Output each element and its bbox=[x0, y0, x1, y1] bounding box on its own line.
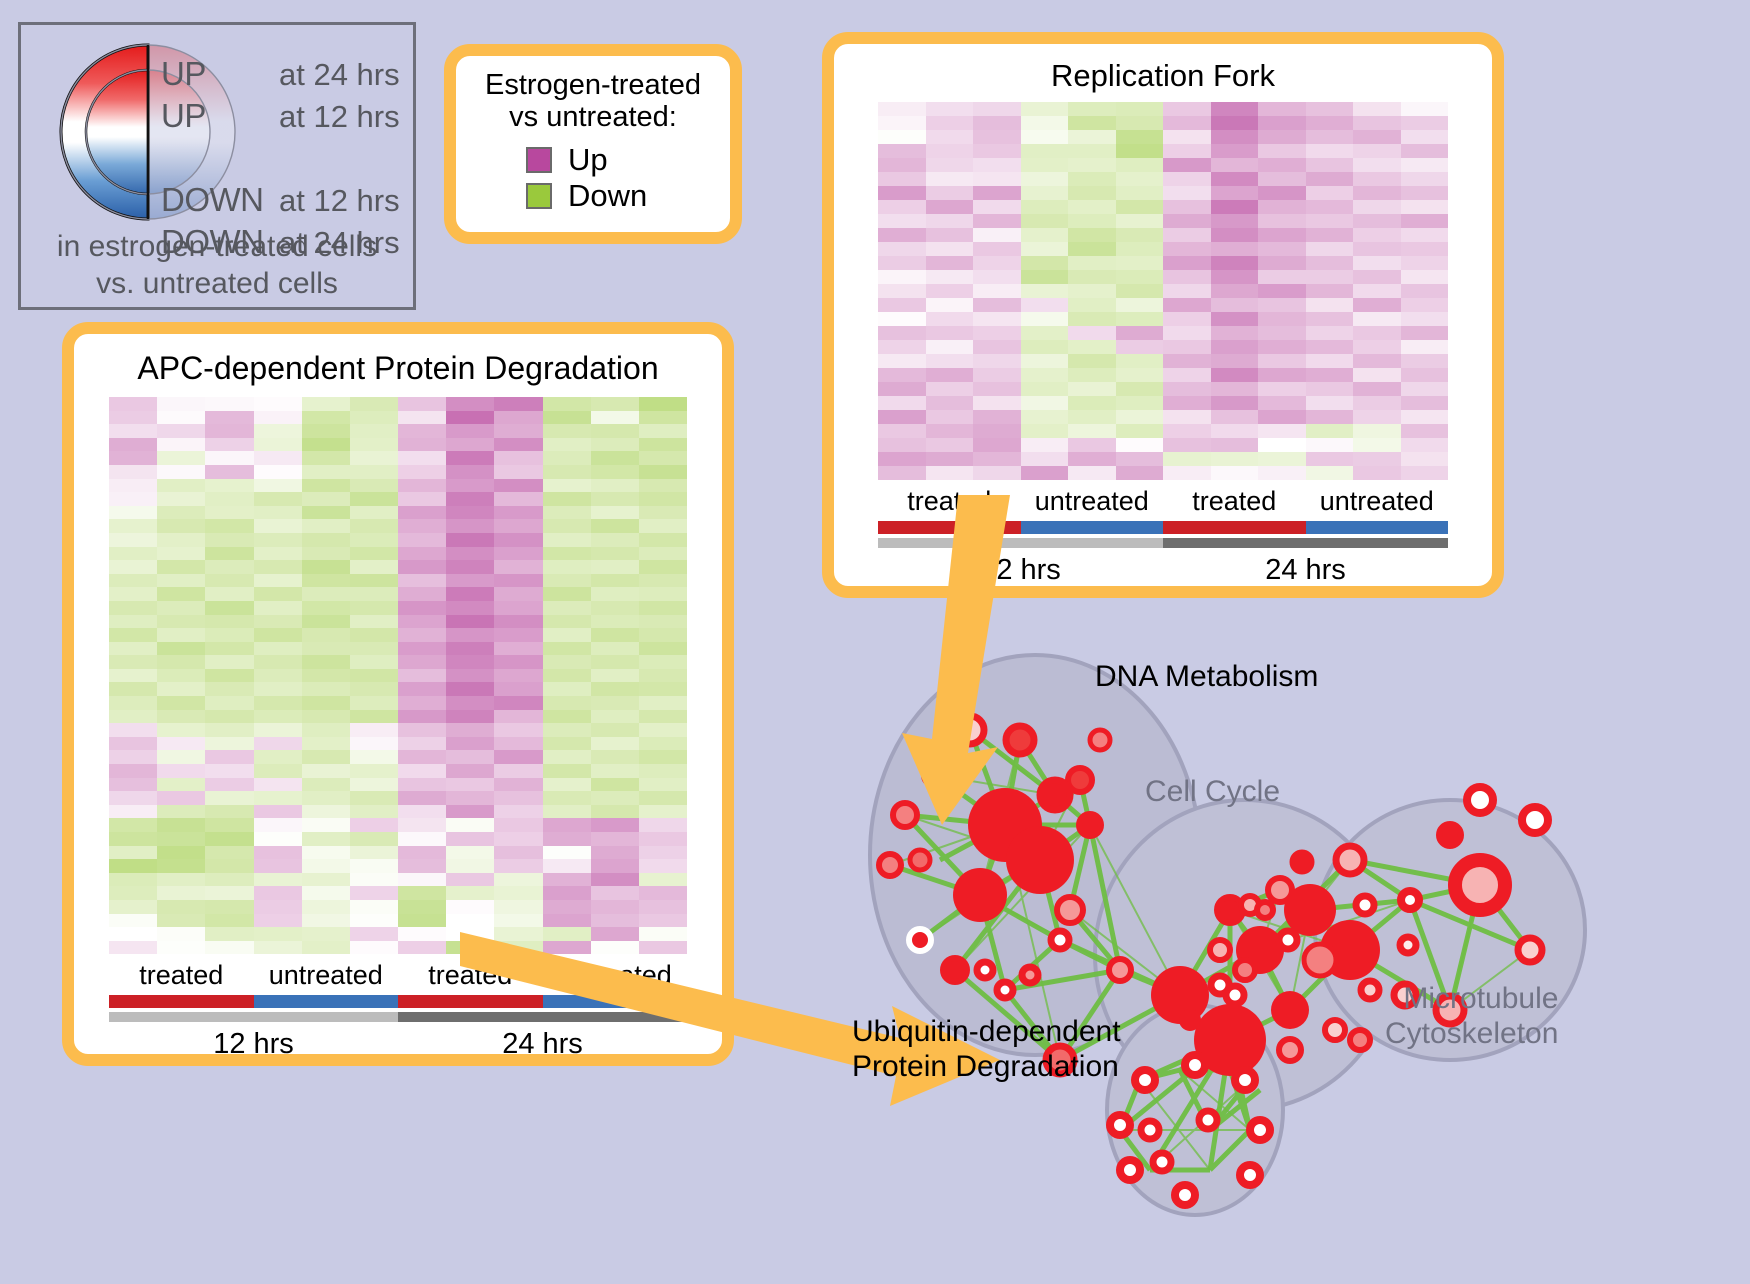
heatmap-cell bbox=[1068, 396, 1116, 410]
heatmap-cell bbox=[1021, 424, 1069, 438]
heatmap-cell bbox=[1401, 452, 1449, 466]
heatmap-cell bbox=[494, 818, 542, 832]
heatmap-cell bbox=[1401, 270, 1449, 284]
heatmap-cell bbox=[350, 533, 398, 547]
heatmap-cell bbox=[494, 859, 542, 873]
legend-items: Up Down bbox=[526, 142, 730, 214]
heatmap-cell bbox=[1211, 382, 1259, 396]
heatmap-cell bbox=[302, 873, 350, 887]
heatmap-cell bbox=[973, 466, 1021, 480]
heatmap-cell bbox=[543, 560, 591, 574]
heatmap-cell bbox=[109, 479, 157, 493]
network-node bbox=[1455, 860, 1505, 910]
heatmap-cell bbox=[398, 941, 446, 955]
heatmap-cell bbox=[591, 750, 639, 764]
heatmap-cell bbox=[109, 465, 157, 479]
heatmap-cell bbox=[1353, 382, 1401, 396]
heatmap-cell bbox=[109, 737, 157, 751]
heatmap-cell bbox=[1353, 410, 1401, 424]
heatmap-cell bbox=[1068, 144, 1116, 158]
network-node bbox=[1361, 981, 1379, 999]
network-node bbox=[1120, 1160, 1140, 1180]
heatmap-cell bbox=[878, 228, 926, 242]
heatmap-cell bbox=[1068, 368, 1116, 382]
heatmap-cell bbox=[157, 615, 205, 629]
heatmap-cell bbox=[398, 805, 446, 819]
heatmap-cell bbox=[446, 587, 494, 601]
heatmap-cell bbox=[1163, 116, 1211, 130]
cluster-label-ubiquitin-degradation: Ubiquitin-dependent Protein Degradation bbox=[852, 1015, 1121, 1085]
heatmap-cell bbox=[398, 628, 446, 642]
heatmap-cell bbox=[494, 846, 542, 860]
heatmap-cell bbox=[254, 818, 302, 832]
heatmap-cell bbox=[1353, 326, 1401, 340]
heatmap-cell bbox=[398, 601, 446, 615]
heatmap-cell bbox=[254, 642, 302, 656]
heatmap-cell bbox=[591, 506, 639, 520]
heatmap-cell bbox=[1258, 242, 1306, 256]
heatmap-cell bbox=[254, 791, 302, 805]
heatmap-cell bbox=[109, 492, 157, 506]
network-node bbox=[1325, 1020, 1345, 1040]
heatmap-cell bbox=[446, 533, 494, 547]
color-key-footer-line2: vs. untreated cells bbox=[21, 266, 413, 303]
heatmap-cell bbox=[1211, 116, 1259, 130]
heatmap-cell bbox=[973, 130, 1021, 144]
heatmap-cell bbox=[157, 832, 205, 846]
heatmap-cell bbox=[1163, 256, 1211, 270]
heatmap-cell bbox=[973, 410, 1021, 424]
heatmap-cell bbox=[302, 805, 350, 819]
heatmap-cell bbox=[1211, 410, 1259, 424]
heatmap-cell bbox=[157, 628, 205, 642]
heatmap-cell bbox=[1068, 410, 1116, 424]
heatmap-cell bbox=[302, 750, 350, 764]
heatmap-cell bbox=[494, 601, 542, 615]
heatmap-cell bbox=[446, 424, 494, 438]
heatmap-cell bbox=[1021, 158, 1069, 172]
heatmap-cell bbox=[157, 424, 205, 438]
heatmap-cell bbox=[878, 284, 926, 298]
network-node bbox=[1135, 1070, 1155, 1090]
heatmap-cell bbox=[1258, 172, 1306, 186]
heatmap-cell bbox=[494, 479, 542, 493]
heatmap-cell bbox=[494, 397, 542, 411]
heatmap-cell bbox=[878, 214, 926, 228]
heatmap-cell bbox=[254, 451, 302, 465]
heatmap-cell bbox=[1306, 312, 1354, 326]
heatmap-cell bbox=[1116, 466, 1164, 480]
heatmap-cell bbox=[591, 533, 639, 547]
heatmap-cell bbox=[1306, 144, 1354, 158]
heatmap-cell bbox=[302, 547, 350, 561]
heatmap-cell bbox=[591, 492, 639, 506]
heatmap-cell bbox=[1353, 200, 1401, 214]
heatmap-cell bbox=[350, 628, 398, 642]
heatmap-cell bbox=[1021, 172, 1069, 186]
heatmap-cell bbox=[398, 846, 446, 860]
heatmap-cell bbox=[1068, 102, 1116, 116]
heatmap-cell bbox=[973, 382, 1021, 396]
heatmap-cell bbox=[1163, 172, 1211, 186]
heatmap-cell bbox=[350, 642, 398, 656]
heatmap-cell bbox=[254, 601, 302, 615]
network-node bbox=[1279, 1039, 1301, 1061]
heatmap-cell bbox=[1353, 354, 1401, 368]
heatmap-cell bbox=[446, 628, 494, 642]
heatmap-cell bbox=[926, 242, 974, 256]
heatmap-cell bbox=[926, 354, 974, 368]
heatmap-cell bbox=[205, 492, 253, 506]
heatmap-cell bbox=[398, 682, 446, 696]
heatmap-cell bbox=[926, 144, 974, 158]
heatmap-cell bbox=[254, 492, 302, 506]
heatmap-cell bbox=[639, 479, 687, 493]
heatmap-cell bbox=[398, 397, 446, 411]
heatmap-cell bbox=[205, 737, 253, 751]
heatmap-cell bbox=[109, 574, 157, 588]
heatmap-cell bbox=[350, 506, 398, 520]
heatmap-cell bbox=[591, 615, 639, 629]
heatmap-cell bbox=[543, 547, 591, 561]
heatmap-cell bbox=[591, 465, 639, 479]
heatmap-cell bbox=[543, 506, 591, 520]
heatmap-cell bbox=[109, 873, 157, 887]
heatmap-cell bbox=[878, 326, 926, 340]
heatmap-cell bbox=[591, 832, 639, 846]
heatmap-cell bbox=[1068, 452, 1116, 466]
untreated-bar-segment bbox=[254, 995, 399, 1008]
heatmap-cell bbox=[398, 560, 446, 574]
heatmap-cell bbox=[878, 368, 926, 382]
heatmap-cell bbox=[973, 228, 1021, 242]
heatmap-cell bbox=[302, 519, 350, 533]
heatmap-cell bbox=[1211, 284, 1259, 298]
heatmap-cell bbox=[205, 873, 253, 887]
network-node bbox=[1240, 1165, 1260, 1185]
heatmap-cell bbox=[398, 506, 446, 520]
time12-bar-segment bbox=[109, 1012, 398, 1022]
heatmap-cell bbox=[1163, 130, 1211, 144]
heatmap-cell bbox=[205, 791, 253, 805]
heatmap-cell bbox=[398, 519, 446, 533]
heatmap-cell bbox=[1163, 144, 1211, 158]
heatmap-cell bbox=[494, 669, 542, 683]
heatmap-cell bbox=[1021, 438, 1069, 452]
heatmap-cell bbox=[109, 547, 157, 561]
heatmap-cell bbox=[1211, 466, 1259, 480]
heatmap-cell bbox=[591, 886, 639, 900]
heatmap-cell bbox=[639, 560, 687, 574]
heatmap-cell bbox=[157, 642, 205, 656]
heatmap-cell bbox=[1211, 368, 1259, 382]
heatmap-cell bbox=[543, 438, 591, 452]
heatmap-cell bbox=[494, 587, 542, 601]
heatmap-cell bbox=[1021, 284, 1069, 298]
heatmap-cell bbox=[157, 764, 205, 778]
heatmap-cell bbox=[1258, 340, 1306, 354]
heatmap-cell bbox=[1021, 326, 1069, 340]
heatmap-cell bbox=[543, 886, 591, 900]
heatmap-cell bbox=[1306, 116, 1354, 130]
heatmap-cell bbox=[973, 144, 1021, 158]
heatmap-cell bbox=[109, 519, 157, 533]
heatmap-cell bbox=[446, 696, 494, 710]
heatmap-cell bbox=[1116, 424, 1164, 438]
heatmap-cell bbox=[543, 710, 591, 724]
heatmap-cell bbox=[926, 410, 974, 424]
heatmap-cell bbox=[350, 682, 398, 696]
network-node bbox=[1439, 824, 1461, 846]
heatmap-cell bbox=[639, 465, 687, 479]
heatmap-cell bbox=[591, 737, 639, 751]
heatmap-cell bbox=[1021, 256, 1069, 270]
heatmap-cell bbox=[398, 859, 446, 873]
heatmap-cell bbox=[446, 886, 494, 900]
heatmap-cell bbox=[1211, 298, 1259, 312]
heatmap-cell bbox=[205, 846, 253, 860]
heatmap-cell bbox=[1306, 410, 1354, 424]
heatmap-cell bbox=[1401, 158, 1449, 172]
heatmap-cell bbox=[973, 438, 1021, 452]
legend-title-line2: vs untreated: bbox=[456, 102, 730, 134]
heatmap-cell bbox=[1211, 158, 1259, 172]
heatmap-cell bbox=[543, 615, 591, 629]
heatmap-cell bbox=[591, 805, 639, 819]
heatmap-cell bbox=[926, 228, 974, 242]
heatmap-cell bbox=[639, 873, 687, 887]
heatmap-cell bbox=[1116, 396, 1164, 410]
heatmap-cell bbox=[302, 411, 350, 425]
heatmap-cell bbox=[302, 832, 350, 846]
heatmap-cell bbox=[591, 574, 639, 588]
heatmap-cell bbox=[350, 914, 398, 928]
heatmap-cell bbox=[591, 846, 639, 860]
heatmap-cell bbox=[926, 200, 974, 214]
network-node bbox=[1250, 1120, 1270, 1140]
network-node bbox=[1467, 787, 1493, 813]
heatmap-cell bbox=[350, 764, 398, 778]
legend-item-down: Down bbox=[526, 178, 730, 214]
heatmap-cell bbox=[591, 519, 639, 533]
heatmap-cell bbox=[1163, 326, 1211, 340]
heatmap-cell bbox=[973, 298, 1021, 312]
heatmap-cell bbox=[1306, 284, 1354, 298]
heatmap-cell bbox=[494, 533, 542, 547]
legend-label-down: Down bbox=[568, 178, 647, 214]
heatmap-cell bbox=[302, 628, 350, 642]
network-node bbox=[1235, 960, 1255, 980]
heatmap-cell bbox=[109, 750, 157, 764]
heatmap-cell bbox=[254, 696, 302, 710]
heatmap-cell bbox=[205, 778, 253, 792]
heatmap-cell bbox=[1306, 452, 1354, 466]
heatmap-cell bbox=[446, 764, 494, 778]
heatmap-cell bbox=[157, 451, 205, 465]
heatmap-cell bbox=[1068, 354, 1116, 368]
heatmap-cell bbox=[1068, 256, 1116, 270]
treated-bar-segment bbox=[109, 995, 254, 1008]
heatmap-cell bbox=[109, 615, 157, 629]
heatmap-cell bbox=[494, 886, 542, 900]
heatmap-cell bbox=[350, 574, 398, 588]
heatmap-cell bbox=[205, 886, 253, 900]
heatmap-cell bbox=[973, 354, 1021, 368]
key-timepoint: at 12 hrs bbox=[279, 99, 400, 135]
heatmap-cell bbox=[543, 479, 591, 493]
heatmap-cell bbox=[1258, 424, 1306, 438]
heatmap-cell bbox=[1116, 256, 1164, 270]
heatmap-cell bbox=[543, 492, 591, 506]
network-node bbox=[1109, 959, 1131, 981]
heatmap-cell bbox=[205, 574, 253, 588]
heatmap-cell bbox=[1211, 270, 1259, 284]
heatmap-cell bbox=[494, 791, 542, 805]
heatmap-cell bbox=[109, 914, 157, 928]
heatmap-cell bbox=[591, 710, 639, 724]
heatmap-cell bbox=[254, 397, 302, 411]
heatmap-cell bbox=[1401, 312, 1449, 326]
heatmap-cell bbox=[1306, 256, 1354, 270]
heatmap-cell bbox=[446, 805, 494, 819]
heatmap-cell bbox=[878, 200, 926, 214]
heatmap-cell bbox=[1068, 228, 1116, 242]
heatmap-cell bbox=[350, 424, 398, 438]
panel-title: Replication Fork bbox=[834, 58, 1492, 94]
heatmap-cell bbox=[350, 547, 398, 561]
heatmap-cell bbox=[398, 424, 446, 438]
heatmap-cell bbox=[494, 560, 542, 574]
heatmap-cell bbox=[878, 186, 926, 200]
heatmap-cell bbox=[157, 669, 205, 683]
heatmap-cell bbox=[1306, 214, 1354, 228]
heatmap-cell bbox=[398, 465, 446, 479]
heatmap-cell bbox=[1068, 312, 1116, 326]
heatmap-cell bbox=[254, 805, 302, 819]
heatmap-cell bbox=[350, 465, 398, 479]
heatmap-cell bbox=[926, 368, 974, 382]
heatmap-cell bbox=[109, 438, 157, 452]
heatmap-cell bbox=[878, 424, 926, 438]
heatmap-cell bbox=[543, 533, 591, 547]
network-node bbox=[1057, 897, 1083, 923]
network-node bbox=[1153, 1153, 1171, 1171]
network-node bbox=[1235, 1070, 1255, 1090]
heatmap-cell bbox=[157, 723, 205, 737]
heatmap-cell bbox=[1306, 270, 1354, 284]
heatmap-cell bbox=[350, 479, 398, 493]
heatmap-cell bbox=[1116, 368, 1164, 382]
heatmap-cell bbox=[591, 397, 639, 411]
heatmap-cell bbox=[1306, 172, 1354, 186]
heatmap-cell bbox=[205, 818, 253, 832]
heatmap-cell bbox=[1163, 354, 1211, 368]
heatmap-cell bbox=[543, 750, 591, 764]
heatmap-cell bbox=[157, 750, 205, 764]
network-node bbox=[1210, 940, 1230, 960]
heatmap-cell bbox=[350, 615, 398, 629]
heatmap-cell bbox=[302, 886, 350, 900]
heatmap-cell bbox=[109, 818, 157, 832]
heatmap-cell bbox=[1306, 382, 1354, 396]
time24-bar-segment bbox=[1163, 538, 1448, 548]
heatmap-cell bbox=[1163, 438, 1211, 452]
heatmap-cell bbox=[639, 533, 687, 547]
heatmap-cell bbox=[878, 102, 926, 116]
heatmap-cell bbox=[543, 764, 591, 778]
heatmap-cell bbox=[1401, 340, 1449, 354]
heatmap-cell bbox=[878, 354, 926, 368]
heatmap-cell bbox=[1211, 130, 1259, 144]
heatmap-cell bbox=[302, 506, 350, 520]
heatmap-cell bbox=[302, 587, 350, 601]
heatmap-cell bbox=[157, 914, 205, 928]
heatmap-cell bbox=[254, 615, 302, 629]
heatmap-cell bbox=[350, 900, 398, 914]
heatmap-cell bbox=[254, 547, 302, 561]
heatmap-cell bbox=[973, 368, 1021, 382]
heatmap-cell bbox=[398, 587, 446, 601]
heatmap-cell bbox=[543, 737, 591, 751]
heatmap-cell bbox=[302, 764, 350, 778]
heatmap-cell bbox=[973, 396, 1021, 410]
heatmap-cell bbox=[494, 737, 542, 751]
heatmap-cell bbox=[639, 642, 687, 656]
heatmap-cell bbox=[1211, 452, 1259, 466]
heatmap-cell bbox=[1021, 340, 1069, 354]
heatmap-cell bbox=[446, 574, 494, 588]
heatmap-cell bbox=[446, 601, 494, 615]
heatmap-cell bbox=[109, 424, 157, 438]
heatmap-cell bbox=[591, 547, 639, 561]
heatmap-cell bbox=[1021, 214, 1069, 228]
heatmap-cell bbox=[254, 873, 302, 887]
heatmap-cell bbox=[254, 479, 302, 493]
heatmap-cell bbox=[157, 710, 205, 724]
heatmap-cell bbox=[302, 900, 350, 914]
heatmap-cell bbox=[543, 574, 591, 588]
heatmap-cell bbox=[1306, 340, 1354, 354]
heatmap-cell bbox=[639, 506, 687, 520]
heatmap-cell bbox=[1021, 200, 1069, 214]
heatmap-cell bbox=[205, 669, 253, 683]
heatmap-cell bbox=[543, 682, 591, 696]
heatmap-cell bbox=[1258, 270, 1306, 284]
heatmap-cell bbox=[350, 560, 398, 574]
heatmap-cell bbox=[878, 396, 926, 410]
heatmap-cell bbox=[1258, 326, 1306, 340]
heatmap-cell bbox=[350, 805, 398, 819]
heatmap-cell bbox=[157, 927, 205, 941]
heatmap-cell bbox=[157, 805, 205, 819]
heatmap-cell bbox=[157, 574, 205, 588]
heatmap-cell bbox=[494, 642, 542, 656]
heatmap-cell bbox=[926, 312, 974, 326]
heatmap-cell bbox=[350, 601, 398, 615]
heatmap-cell bbox=[109, 927, 157, 941]
heatmap-cell bbox=[591, 873, 639, 887]
heatmap-cell bbox=[109, 805, 157, 819]
heatmap-cell bbox=[157, 560, 205, 574]
heatmap-cell bbox=[1211, 102, 1259, 116]
heatmap-cell bbox=[254, 886, 302, 900]
heatmap-cell bbox=[1401, 284, 1449, 298]
heatmap-cell bbox=[591, 818, 639, 832]
heatmap-cell bbox=[1258, 298, 1306, 312]
heatmap-cell bbox=[157, 859, 205, 873]
heatmap-cell bbox=[1258, 438, 1306, 452]
heatmap-cell bbox=[1401, 326, 1449, 340]
